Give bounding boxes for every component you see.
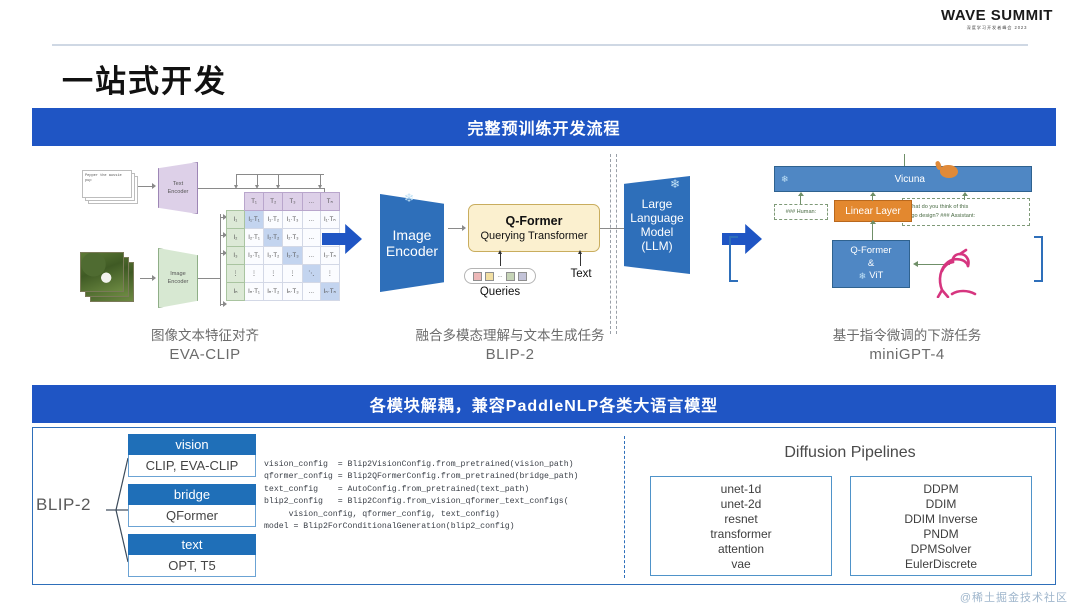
clip-text-encoder-label: Text Encoder [168,180,189,196]
minigpt4-prompt-assistant: What do you think of this logo design? #… [902,198,1030,226]
clip-matrix-corner [227,193,245,211]
blip2-llm-label: Large Language Model (LLM) [630,197,683,254]
module-vision[interactable]: vision CLIP, EVA-CLIP [128,434,256,477]
code-snippet: vision_config = Blip2VisionConfig.from_p… [264,459,612,534]
connector-text-to-qformer [580,254,581,266]
clip-image-encoder-label: Image Encoder [168,270,189,286]
query-chip [506,272,515,281]
bracket-left-icon [729,236,738,282]
clip-matrix-row-header: I₁ [227,211,245,229]
minigpt4-linear-layer: Linear Layer [834,200,912,222]
caption-cn: 基于指令微调的下游任务 [762,327,1052,345]
brand-logo-text: WAVE SUMMIT [932,8,1062,23]
clip-matrix-row-header: I₃ [227,247,245,265]
query-chip [518,272,527,281]
arrowhead [223,301,227,307]
diagram-captions: 图像文本特征对齐 EVA-CLIP 融合多模态理解与文本生成任务 BLIP-2 … [32,327,1056,373]
diffusion-module-item: unet-1d [721,482,762,496]
caption-cn: 融合多模态理解与文本生成任务 [350,327,670,345]
caption-minigpt4: 基于指令微调的下游任务 miniGPT-4 [762,327,1052,365]
clip-matrix-cell: I₃·Tₙ [320,247,339,265]
diffusion-samplers-box: DDPM DDIM DDIM Inverse PNDM DPMSolver Eu… [850,476,1032,576]
connector-image-encoder-bus [198,278,220,279]
clip-matrix-cell: Iₙ·T₃ [283,283,302,301]
flamingo-logo-icon [928,240,988,298]
clip-matrix-col-header: T₁ [244,193,263,211]
clip-matrix-row: I₃ I₃·T₁ I₃·T₂ I₃·T₃ … I₃·Tₙ [227,247,340,265]
section-banner-module-decoupling: 各模块解耦，兼容PaddleNLP各类大语言模型 [32,385,1056,423]
clip-matrix-cell: I₃·T₁ [244,247,263,265]
blip2-text-label: Text [558,268,604,280]
connector-vicuna-output [904,154,905,166]
section-banner-pretraining-flow: 完整预训练开发流程 [32,108,1056,146]
blip2-image-encoder: Image Encoder [380,194,444,292]
clip-matrix-row: I₁ I₁·T₁ I₁·T₂ I₁·T₃ … I₁·Tₙ [227,211,340,229]
diffusion-module-item: vae [731,557,750,571]
connector-assistant-prompt-up [964,196,965,200]
clip-matrix-cell: ⋮ [264,265,283,283]
minigpt4-prompt-assistant-text: What do you think of this logo design? #… [907,203,975,220]
connector-qformer-to-llm [600,228,626,229]
query-chip [485,272,494,281]
clip-matrix-cell: ⋮ [283,265,302,283]
connector-linear-up [872,196,873,201]
clip-matrix-col-header: Tₙ [320,193,339,211]
blip2-qformer-box: Q-Former Querying Transformer [468,204,600,252]
module-bridge-header: bridge [128,484,256,505]
clip-matrix-cell: … [302,247,320,265]
clip-image-encoder: Image Encoder [158,248,198,308]
diffusion-sampler-item: DDIM [926,497,957,511]
blip2-queries-pill: ... [464,268,536,284]
clip-similarity-matrix: T₁ T₂ T₃ … Tₙ I₁ I₁·T₁ I₁·T₂ I₁·T₃ … I₁·… [226,192,340,301]
panel-divider [624,436,625,578]
arrowhead [276,185,280,189]
diffusion-module-item: unet-2d [721,497,762,511]
connector-text-encoder-bus [198,188,324,189]
clip-matrix-row: Iₙ Iₙ·T₁ Iₙ·T₂ Iₙ·T₃ … Iₙ·Tₙ [227,283,340,301]
connector-queries-to-qformer [500,254,501,266]
clip-matrix-row-header: Iₙ [227,283,245,301]
clip-matrix-table: T₁ T₂ T₃ … Tₙ I₁ I₁·T₁ I₁·T₂ I₁·T₃ … I₁·… [226,192,340,301]
arrowhead [152,183,156,189]
arrowhead [870,192,876,196]
watermark: @稀土掘金技术社区 [960,589,1068,605]
clip-matrix-cell: … [302,211,320,229]
arrowhead [462,225,466,231]
brace-icon [104,440,130,580]
clip-matrix-cell: I₁·T₂ [264,211,283,229]
connector-top-bus [236,174,324,175]
minigpt4-qformer-label: Q-Former [850,245,891,257]
title-divider [52,44,1028,46]
clip-matrix-cell: Iₙ·Tₙ [320,283,339,301]
module-vision-body: CLIP, EVA-CLIP [128,455,256,477]
diffusion-module-item: attention [718,542,764,556]
arrowhead [798,192,804,196]
minigpt4-prompt-human-text: ### Human: [786,208,816,217]
blip2-llm-box: Large Language Model (LLM) [624,176,690,274]
page-title: 一站式开发 [62,56,227,101]
minigpt4-vicuna-label: Vicuna [789,174,1031,185]
connector-human-prompt-up [800,196,801,204]
diffusion-modules-box: unet-1d unet-2d resnet transformer atten… [650,476,832,576]
arrowhead [913,261,918,267]
module-text-header: text [128,534,256,555]
caption-cn: 图像文本特征对齐 [70,327,340,345]
caption-blip2: 融合多模态理解与文本生成任务 BLIP-2 [350,327,670,365]
clip-matrix-cell: ⋮ [244,265,263,283]
arrowhead [578,250,582,254]
diffusion-sampler-item: PNDM [923,527,958,541]
module-bridge-body: QFormer [128,505,256,527]
blip2-image-encoder-label: Image Encoder [386,227,438,259]
caption-en: EVA-CLIP [70,345,340,365]
arrowhead [318,185,322,189]
diffusion-sampler-item: DDPM [923,482,958,496]
clip-matrix-header-row: T₁ T₂ T₃ … Tₙ [227,193,340,211]
module-text[interactable]: text OPT, T5 [128,534,256,577]
clip-matrix-cell: I₂·T₃ [283,229,302,247]
module-vision-header: vision [128,434,256,455]
minigpt4-vit-row: ❄ ViT [859,270,884,282]
arrowhead [870,220,876,224]
clip-matrix-col-header: … [302,193,320,211]
clip-matrix-row: ⋮ ⋮ ⋮ ⋮ ⋱ ⋮ [227,265,340,283]
diffusion-sampler-item: DPMSolver [911,542,972,556]
caption-en: BLIP-2 [350,345,670,365]
query-chip [473,272,482,281]
brand-logo: WAVE SUMMIT 深度学习开发者峰会 2023 [932,8,1062,30]
diffusion-module-item: resnet [724,512,757,526]
clip-subdiagram: Pepper the aussie pup Text Encoder Image… [40,156,340,341]
connector-image-to-image-encoder [140,278,152,279]
arrowhead [152,275,156,281]
connector-qformer-to-linear [872,224,873,240]
diagram-phase-divider [610,154,611,334]
diagram-phase-divider [616,154,617,334]
llama-mascot-icon [940,165,958,178]
diffusion-sampler-item: DDIM Inverse [904,512,977,526]
clip-matrix-cell: I₂·T₂ [264,229,283,247]
snowflake-icon: ❄ [859,272,867,281]
diffusion-module-item: transformer [710,527,771,541]
clip-matrix-row-header: I₂ [227,229,245,247]
minigpt4-subdiagram: ❄ Vicuna ### Human: What do you think of… [732,156,1052,346]
minigpt4-vit-label: ViT [869,270,883,282]
minigpt4-qformer-vit: Q-Former & ❄ ViT [832,240,910,288]
clip-matrix-cell: … [302,229,320,247]
clip-text-encoder: Text Encoder [158,162,198,214]
snowflake-icon: ❄ [670,178,680,190]
blip2-queries-label: Queries [464,286,536,298]
clip-matrix-col-header: T₂ [264,193,283,211]
document-caption-text: Pepper the aussie pup [85,174,129,185]
clip-matrix-cell: I₃·T₂ [264,247,283,265]
arrowhead [498,250,502,254]
module-text-body: OPT, T5 [128,555,256,577]
diffusion-sampler-item: EulerDiscrete [905,557,977,571]
brand-logo-subtitle: 深度学习开发者峰会 2023 [932,26,1062,30]
clip-matrix-cell: I₁·Tₙ [320,211,339,229]
snowflake-icon: ❄ [404,192,414,204]
clip-matrix-cell: ⋮ [320,265,339,283]
clip-matrix-cell: I₁·T₁ [244,211,263,229]
blip2-qformer-title: Q-Former [506,214,563,228]
minigpt4-prompt-human: ### Human: [774,204,828,220]
arrowhead [255,185,259,189]
clip-matrix-cell: ⋱ [302,265,320,283]
diffusion-pipelines-title: Diffusion Pipelines [660,444,1040,462]
arrowhead [962,192,968,196]
clip-matrix-cell: Iₙ·T₂ [264,283,283,301]
blip2-subdiagram: Image Encoder ❄ Q-Former Querying Transf… [370,156,700,346]
clip-matrix-cell: Iₙ·T₁ [244,283,263,301]
minigpt4-vicuna-bar: ❄ Vicuna [774,166,1032,192]
clip-matrix-cell: I₁·T₃ [283,211,302,229]
clip-matrix-cell: I₂·T₁ [244,229,263,247]
blip2-root-label: BLIP-2 [36,495,91,515]
clip-matrix-col-header: T₃ [283,193,302,211]
image-stack [80,252,140,306]
caption-en: miniGPT-4 [762,345,1052,365]
minigpt4-linear-layer-label: Linear Layer [845,206,901,217]
connector-doc-to-text-encoder [138,186,152,187]
snowflake-icon: ❄ [781,175,789,184]
minigpt4-amp-label: & [868,258,874,270]
blip2-qformer-subtitle: Querying Transformer [481,230,588,242]
module-bridge[interactable]: bridge QFormer [128,484,256,527]
connector-encoder-to-qformer [448,228,462,229]
bracket-right-icon [1034,236,1043,282]
caption-eva-clip: 图像文本特征对齐 EVA-CLIP [70,327,340,365]
connector-row-bus [220,214,221,306]
arrowhead [234,185,238,189]
clip-matrix-row-header: ⋮ [227,265,245,283]
ellipsis-icon: ... [497,273,502,279]
text-document-stack: Pepper the aussie pup [82,170,138,204]
clip-matrix-cell: I₃·T₃ [283,247,302,265]
clip-matrix-cell: … [302,283,320,301]
